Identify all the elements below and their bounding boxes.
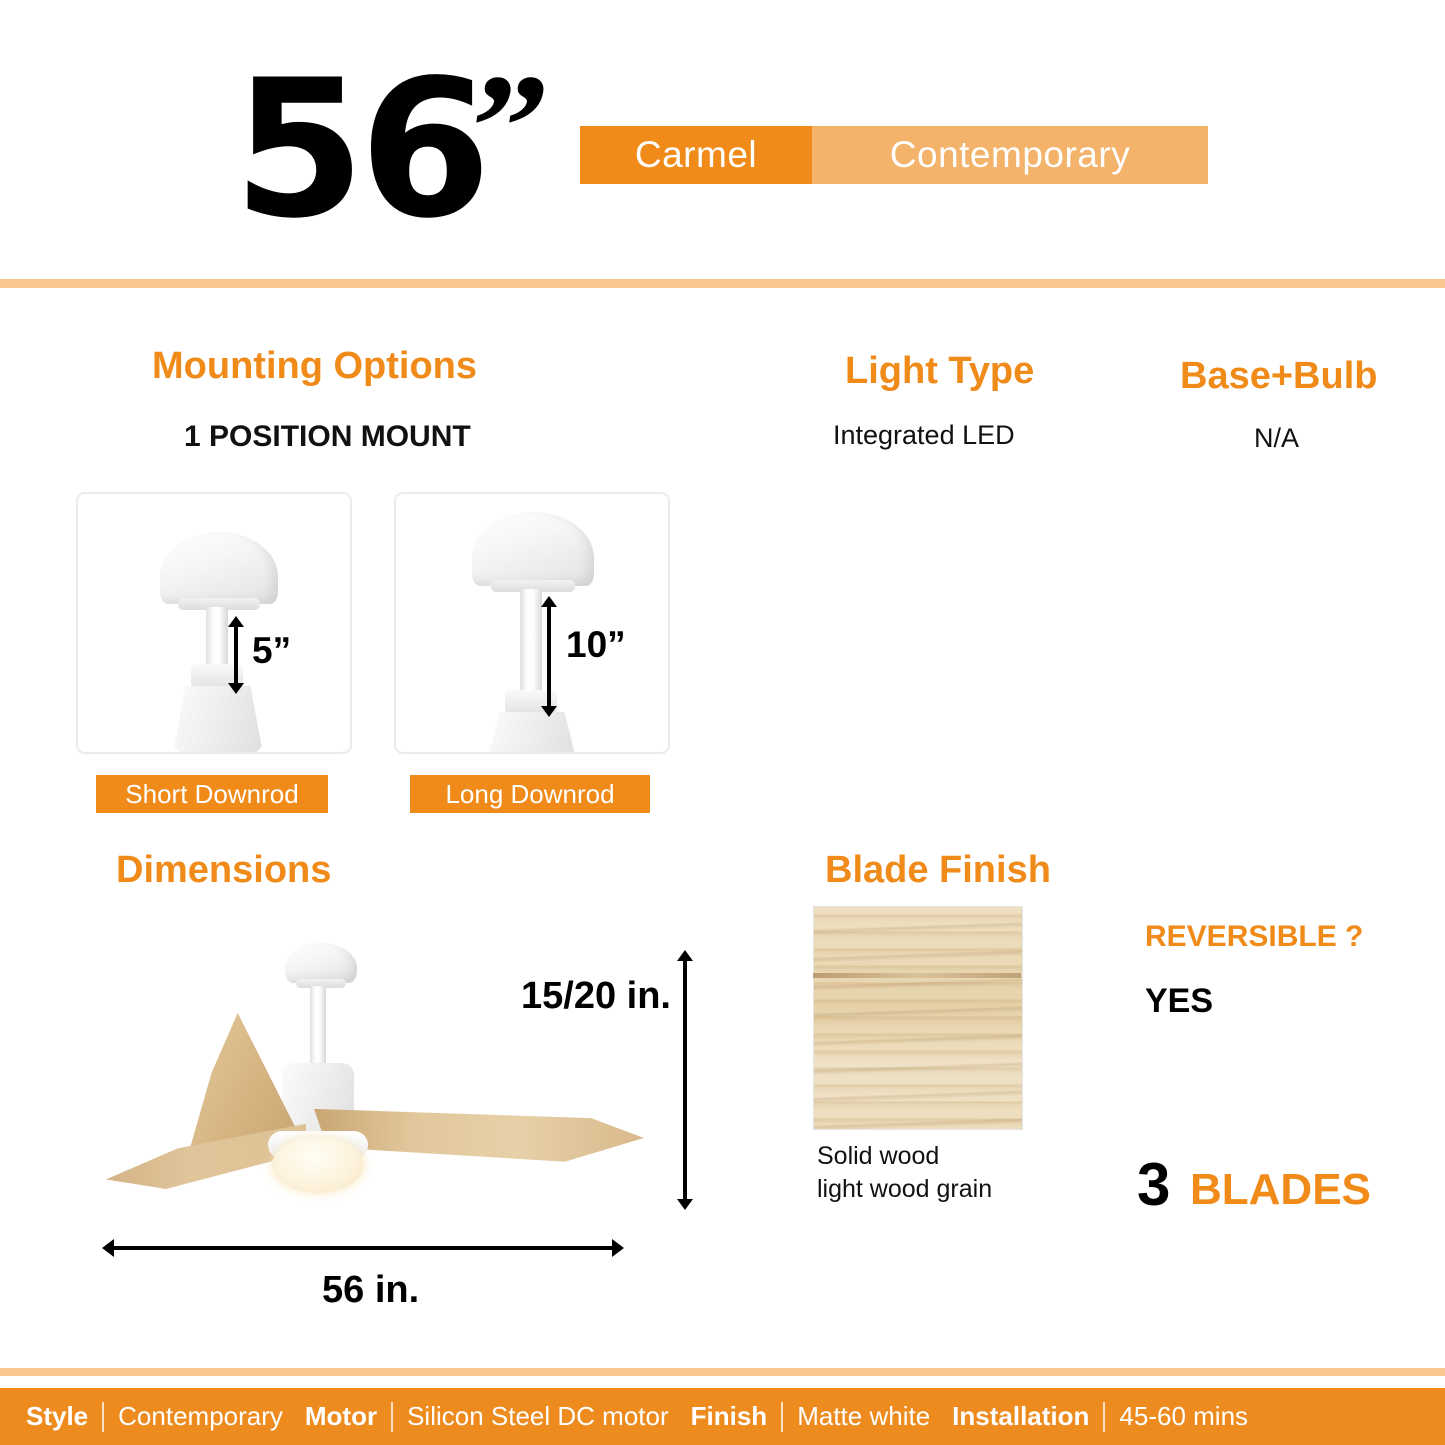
- spec-footer-items: Style Contemporary Motor Silicon Steel D…: [0, 1401, 1248, 1432]
- spec-divider: [391, 1402, 393, 1432]
- spec-label-motor: Motor: [305, 1401, 377, 1432]
- downrod-length-arrow: [547, 606, 551, 707]
- mount-card-short-downrod: 5”: [76, 492, 352, 754]
- spec-footer: Style Contemporary Motor Silicon Steel D…: [0, 1388, 1445, 1445]
- fan-width-label: 56 in.: [322, 1269, 419, 1312]
- mount-card-long-downrod: 10”: [394, 492, 670, 754]
- blade-finish-caption-line1: Solid wood: [817, 1140, 992, 1173]
- spec-value-style: Contemporary: [118, 1401, 283, 1432]
- spec-label-finish: Finish: [691, 1401, 768, 1432]
- downrod-icon: [520, 589, 542, 695]
- spec-value-installation: 45-60 mins: [1119, 1401, 1248, 1432]
- fan-width-arrow: [113, 1246, 613, 1250]
- fan-canopy-icon: [285, 943, 357, 983]
- blade-count-word: BLADES: [1190, 1168, 1371, 1212]
- downrod-icon: [206, 607, 228, 669]
- spec-divider: [1103, 1402, 1105, 1432]
- light-type-value: Integrated LED: [833, 420, 1015, 451]
- wood-grain-line: [813, 973, 1021, 978]
- brand-name: Carmel: [580, 126, 812, 184]
- spec-label-installation: Installation: [952, 1401, 1089, 1432]
- motor-housing-icon: [173, 686, 263, 754]
- reversible-title: REVERSIBLE ?: [1145, 920, 1363, 954]
- downrod-length-label: 5”: [252, 630, 291, 672]
- header: 56 ” Carmel Contemporary: [0, 0, 1445, 280]
- spec-value-finish: Matte white: [797, 1401, 930, 1432]
- blade-finish-title: Blade Finish: [825, 849, 1051, 892]
- base-bulb-value: N/A: [1254, 423, 1299, 454]
- wood-grain-swatch: [813, 906, 1023, 1130]
- downrod-length-arrow: [234, 626, 238, 684]
- blade-count-number: 3: [1137, 1155, 1170, 1215]
- motor-housing-icon: [487, 712, 577, 754]
- mounting-options-title: Mounting Options: [152, 345, 477, 388]
- header-divider: [0, 279, 1445, 288]
- spec-label-style: Style: [26, 1401, 88, 1432]
- position-mount-label: 1 POSITION MOUNT: [184, 420, 471, 454]
- brand-style: Contemporary: [812, 126, 1208, 184]
- short-downrod-chip: Short Downrod: [96, 775, 328, 813]
- base-bulb-title: Base+Bulb: [1180, 355, 1377, 398]
- fan-height-label: 15/20 in.: [521, 975, 671, 1018]
- dimensions-title: Dimensions: [116, 849, 331, 892]
- spec-divider: [102, 1402, 104, 1432]
- downrod-length-label: 10”: [566, 624, 626, 666]
- spec-value-motor: Silicon Steel DC motor: [407, 1401, 669, 1432]
- fan-height-arrow: [683, 960, 687, 1200]
- blade-finish-caption: Solid wood light wood grain: [817, 1140, 992, 1206]
- brand-banner: Carmel Contemporary: [580, 126, 1208, 184]
- reversible-value: YES: [1145, 982, 1213, 1021]
- blade-finish-caption-line2: light wood grain: [817, 1173, 992, 1206]
- footer-accent-bar: [0, 1368, 1445, 1376]
- light-type-title: Light Type: [845, 350, 1034, 393]
- canopy-dome-icon: [472, 512, 594, 586]
- fan-light-kit-icon: [272, 1137, 364, 1193]
- fan-downrod-icon: [310, 986, 326, 1068]
- canopy-dome-icon: [160, 532, 278, 604]
- long-downrod-chip: Long Downrod: [410, 775, 650, 813]
- spec-divider: [781, 1402, 783, 1432]
